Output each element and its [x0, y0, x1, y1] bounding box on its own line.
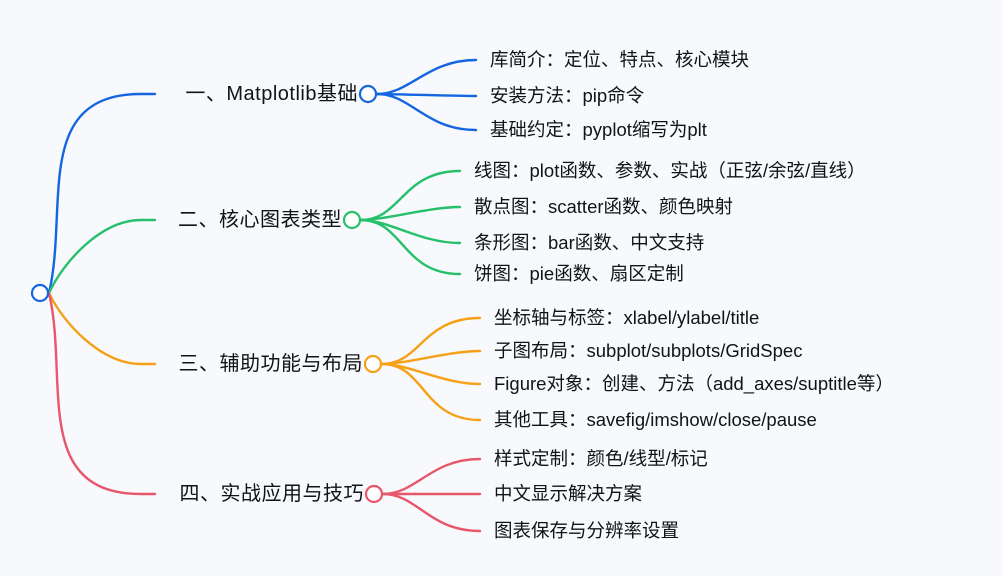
connector-root-to-branch-practice-and-tips	[49, 293, 141, 494]
leaf-label-3-of-branch-matplotlib-basics[interactable]: 基础约定：pyplot缩写为plt	[490, 121, 707, 140]
branch-label-branch-core-chart-types[interactable]: 二、核心图表类型	[178, 210, 342, 230]
leaf-label-3-of-branch-core-chart-types[interactable]: 条形图：bar函数、中文支持	[474, 234, 704, 253]
leaf-label-1-of-branch-matplotlib-basics[interactable]: 库简介：定位、特点、核心模块	[490, 51, 749, 70]
leaf-label-2-of-branch-practice-and-tips[interactable]: 中文显示解决方案	[494, 485, 642, 504]
connector-branch-matplotlib-basics-to-leaf-basic-convention	[377, 94, 476, 130]
connector-root-to-branch-matplotlib-basics	[49, 94, 141, 293]
node-branch-matplotlib-basics[interactable]	[360, 86, 376, 102]
leaf-label-1-of-branch-core-chart-types[interactable]: 线图：plot函数、参数、实战（正弦/余弦/直线）	[474, 162, 866, 181]
leaf-label-3-of-branch-helpers-and-layout[interactable]: Figure对象：创建、方法（add_axes/suptitle等）	[494, 375, 894, 394]
connector-branch-helpers-and-layout-to-leaf-other-tools	[382, 364, 480, 420]
branch-label-branch-practice-and-tips[interactable]: 四、实战应用与技巧	[180, 484, 365, 504]
connector-branch-helpers-and-layout-to-leaf-subplot-layout	[382, 351, 480, 364]
leaf-label-3-of-branch-practice-and-tips[interactable]: 图表保存与分辨率设置	[494, 522, 679, 541]
branch-label-branch-matplotlib-basics[interactable]: 一、Matplotlib基础	[185, 84, 358, 104]
connector-branch-core-chart-types-to-leaf-scatter-plot	[361, 207, 460, 220]
leaf-label-2-of-branch-helpers-and-layout[interactable]: 子图布局：subplot/subplots/GridSpec	[494, 342, 802, 361]
node-branch-practice-and-tips[interactable]	[366, 486, 382, 502]
leaf-label-4-of-branch-helpers-and-layout[interactable]: 其他工具：savefig/imshow/close/pause	[494, 411, 817, 430]
connector-branch-matplotlib-basics-to-leaf-library-intro	[377, 60, 476, 94]
connector-branch-practice-and-tips-to-leaf-style-customization	[383, 459, 480, 494]
leaf-label-4-of-branch-core-chart-types[interactable]: 饼图：pie函数、扇区定制	[474, 265, 684, 284]
connector-branch-core-chart-types-to-leaf-pie-chart	[361, 220, 460, 274]
node-branch-helpers-and-layout[interactable]	[365, 356, 381, 372]
branch-label-branch-helpers-and-layout[interactable]: 三、辅助功能与布局	[179, 354, 364, 374]
leaf-label-1-of-branch-practice-and-tips[interactable]: 样式定制：颜色/线型/标记	[494, 450, 708, 469]
leaf-label-1-of-branch-helpers-and-layout[interactable]: 坐标轴与标签：xlabel/ylabel/title	[494, 309, 759, 328]
leaf-label-2-of-branch-matplotlib-basics[interactable]: 安装方法：pip命令	[490, 87, 644, 106]
mindmap-canvas: 库简介：定位、特点、核心模块安装方法：pip命令基础约定：pyplot缩写为pl…	[0, 0, 1002, 576]
node-branch-core-chart-types[interactable]	[344, 212, 360, 228]
connector-root-to-branch-helpers-and-layout	[49, 293, 141, 364]
connector-branch-practice-and-tips-to-leaf-save-and-dpi	[383, 494, 480, 531]
leaf-label-2-of-branch-core-chart-types[interactable]: 散点图：scatter函数、颜色映射	[474, 198, 733, 217]
node-root[interactable]	[32, 285, 48, 301]
connector-root-to-branch-core-chart-types	[49, 220, 141, 293]
